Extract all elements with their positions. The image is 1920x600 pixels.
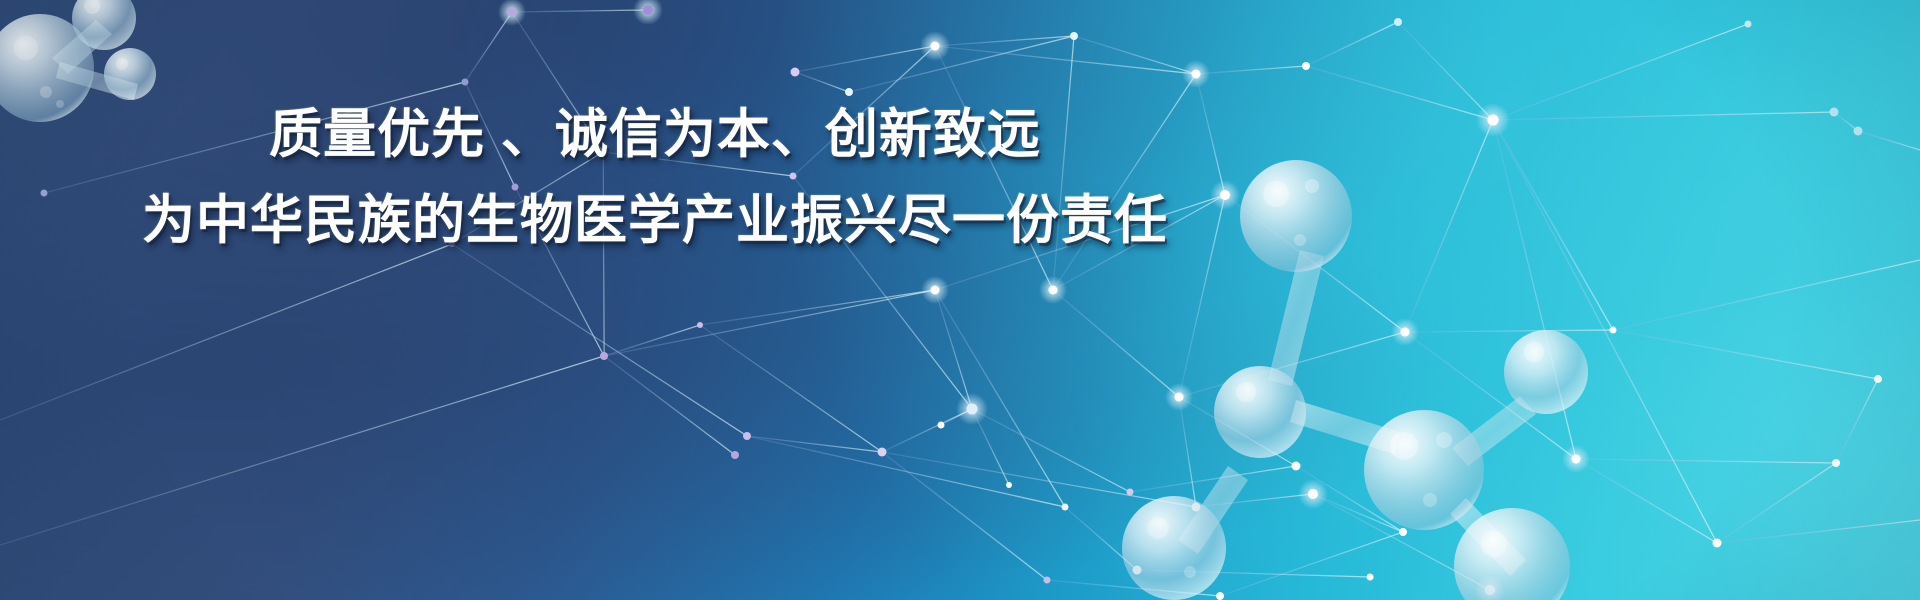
hero-banner: 质量优先 、诚信为本、创新致远 为中华民族的生物医学产业振兴尽一份责任	[0, 0, 1920, 600]
vignette-overlay	[0, 0, 1920, 600]
